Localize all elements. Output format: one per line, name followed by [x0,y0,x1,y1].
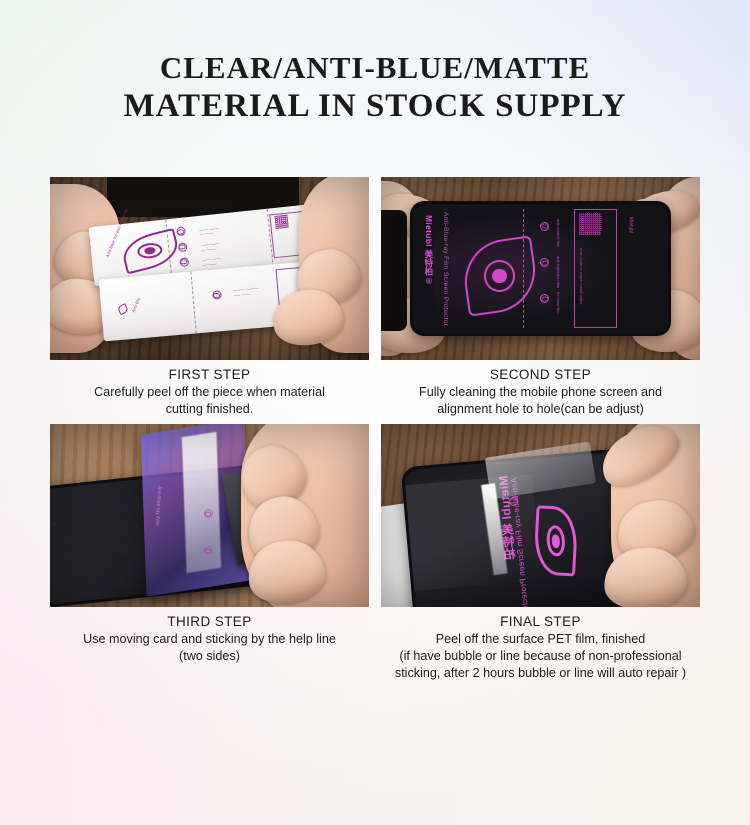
step-desc-third-line-2: (two sides) [52,648,367,665]
step-card-third: Anti-Blue-ray Film TH [50,424,369,682]
eye-logo-lower [117,303,129,315]
step-title-first: FIRST STEP [52,367,367,382]
step-caption-second: SECOND STEP Fully cleaning the mobile ph… [381,360,700,418]
step-photo-first: Anti-Blue Screen Protector ____ ______ _… [50,177,369,360]
page-title: CLEAR/ANTI-BLUE/MATTE MATERIAL IN STOCK … [0,50,750,126]
step-caption-final: FINAL STEP Peel off the surface PET film… [381,607,700,682]
eye-logo-upper [121,231,180,271]
step-desc-final-line-3: sticking, after 2 hours bubble or line w… [383,665,698,682]
step-desc-first-line-2: cutting finished. [52,401,367,418]
step-desc-third-line-1: Use moving card and sticking by the help… [52,631,367,648]
step-desc-final-line-1: Peel off the surface PET film, finished [383,631,698,648]
step-title-final: FINAL STEP [383,614,698,629]
smartphone: Mietubl 美特柏® Anti-Blue-ray Film Screen P… [410,201,672,336]
step-card-final: Mietubl 美特柏 Anti-Blue-ray Film Screen Pr… [381,424,700,682]
steps-row-2: Anti-Blue-ray Film TH [50,424,700,682]
qr-code [579,213,601,235]
phone-screen: Mietubl 美特柏® Anti-Blue-ray Film Screen P… [413,204,669,333]
front-camera [52,523,56,527]
step-caption-first: FIRST STEP Carefully peel off the piece … [50,360,369,418]
steps-row-1: Anti-Blue Screen Protector ____ ______ _… [50,177,700,418]
eye-logo [532,504,580,577]
step-title-third: THIRD STEP [52,614,367,629]
step-photo-second: Mietubl 美特柏® Anti-Blue-ray Film Screen P… [381,177,700,360]
steps-grid: Anti-Blue Screen Protector ____ ______ _… [50,177,700,681]
step-desc-second-line-2: alignment hole to hole(can be adjust) [383,401,698,418]
page-title-line-1: CLEAR/ANTI-BLUE/MATTE [0,50,750,87]
step-desc-first-line-1: Carefully peel off the piece when materi… [52,384,367,401]
step-card-first: Anti-Blue Screen Protector ____ ______ _… [50,177,369,418]
step-caption-third: THIRD STEP Use moving card and sticking … [50,607,369,665]
step-photo-third: Anti-Blue-ray Film [50,424,369,607]
step-card-second: Mietubl 美特柏® Anti-Blue-ray Film Screen P… [381,177,700,418]
qr-code-upper [275,214,289,228]
page-title-line-2: MATERIAL IN STOCK SUPPLY [0,87,750,126]
infographic-page: CLEAR/ANTI-BLUE/MATTE MATERIAL IN STOCK … [0,0,750,750]
film-brand-text: Mietubl 美特柏® [423,215,435,286]
step-photo-final: Mietubl 美特柏 Anti-Blue-ray Film Screen Pr… [381,424,700,607]
film-secondary-text: Anti-Blue-ray Film Screen Protector [442,212,449,326]
eye-logo [464,240,536,312]
step-title-second: SECOND STEP [383,367,698,382]
step-desc-final-line-2: (if have bubble or line because of non-p… [383,648,698,665]
dark-shadow-object [381,210,407,331]
step-desc-second-line-1: Fully cleaning the mobile phone screen a… [383,384,698,401]
alignment-dashed-line [523,209,524,328]
film-secondary-text-lower: Anti Blu [131,296,142,312]
